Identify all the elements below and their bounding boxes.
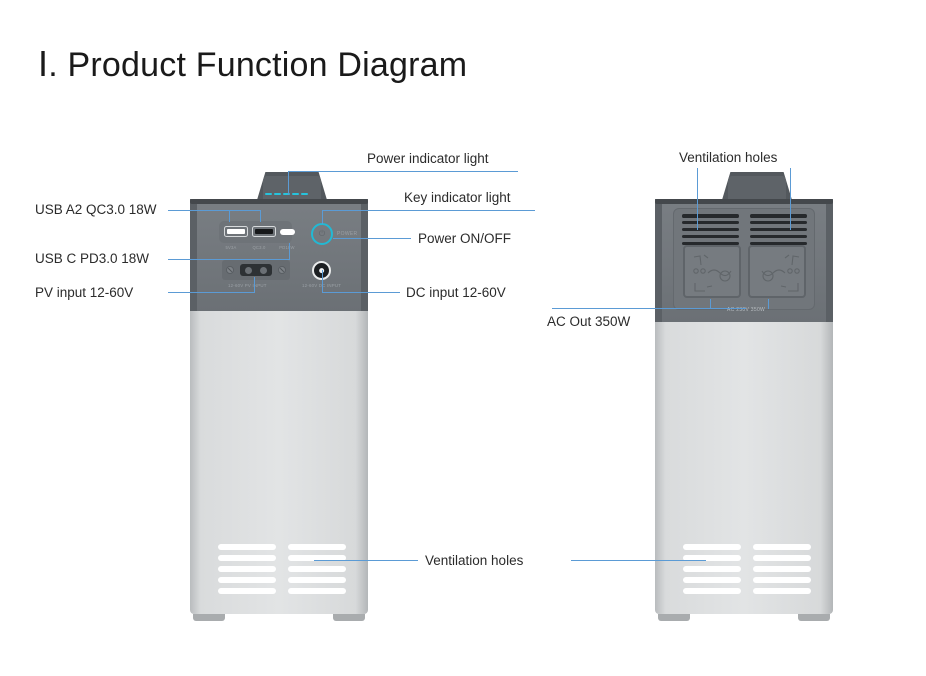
front-foot-right	[333, 614, 365, 621]
leader-pv-input-h	[168, 292, 255, 293]
rear-foot-left	[658, 614, 690, 621]
callout-ventilation-holes-bottom: Ventilation holes	[425, 554, 523, 568]
callout-usb-a2-qc: USB A2 QC3.0 18W	[35, 203, 157, 217]
rear-ventilation-right	[750, 214, 807, 248]
front-vent-column-1	[218, 544, 276, 594]
usb-a1-port[interactable]	[224, 226, 248, 237]
leader-vent-bottom-left	[314, 560, 418, 561]
front-head-edge-left	[190, 199, 197, 311]
pv-input-caption: 12-60V PV INPUT	[228, 283, 267, 288]
leader-power-on-off	[333, 238, 411, 239]
callout-ac-out: AC Out 350W	[547, 315, 630, 329]
page-title: Ⅰ. Product Function Diagram	[38, 45, 467, 85]
callout-ventilation-holes-top: Ventilation holes	[679, 151, 777, 165]
power-glyph: ⏻	[319, 229, 325, 239]
leader-pv-input-v	[254, 277, 255, 292]
leader-usb-c-h	[168, 259, 290, 260]
usb-a2-caption: QC3.0	[247, 245, 271, 250]
leader-usb-a2-v	[260, 210, 261, 222]
pv-screw-right	[278, 266, 286, 274]
callout-dc-input: DC input 12-60V	[406, 286, 506, 300]
pv-pin-left	[245, 267, 252, 274]
leader-vent-bottom-right	[571, 560, 706, 561]
rear-ventilation-left	[682, 214, 739, 248]
callout-usb-c-pd: USB C PD3.0 18W	[35, 252, 149, 266]
front-head-edge-right	[361, 199, 368, 311]
rear-bottom-ventilation	[683, 544, 811, 594]
pv-pin-right	[260, 267, 267, 274]
leader-usb-a1-v	[229, 210, 230, 222]
rear-handle-inner	[728, 176, 787, 200]
usb-a2-port[interactable]	[252, 226, 276, 237]
ac-outlet-right-graphic	[750, 247, 808, 300]
callout-key-indicator-light: Key indicator light	[404, 191, 511, 205]
front-head-face	[190, 199, 368, 311]
front-top-shadow	[190, 199, 368, 204]
usb-a1-slot	[227, 229, 245, 234]
leader-usb-c-v	[289, 243, 290, 259]
pv-connector[interactable]	[240, 264, 272, 276]
power-indicator-light	[265, 193, 308, 195]
rear-foot-right	[798, 614, 830, 621]
callout-pv-input: PV input 12-60V	[35, 286, 133, 300]
front-bottom-ventilation	[218, 544, 346, 594]
leader-usb-a2-h	[168, 210, 261, 211]
pv-input-block[interactable]	[222, 260, 290, 280]
front-handle-inner	[263, 176, 322, 200]
callout-power-on-off: Power ON/OFF	[418, 232, 511, 246]
usb-a1-caption: 5V3A	[219, 245, 243, 250]
power-button-caption: POWER	[337, 231, 357, 237]
pv-screw-left	[226, 266, 234, 274]
power-on-off-button[interactable]: ⏻	[311, 223, 333, 245]
usb-c-port[interactable]	[280, 229, 295, 235]
ac-outlet-right[interactable]	[748, 245, 806, 298]
leader-key-indicator-v	[322, 210, 323, 224]
rear-top-shadow	[655, 199, 833, 204]
front-head	[190, 199, 368, 311]
rear-head-edge-right	[826, 199, 833, 322]
leader-vent-top-left	[697, 168, 698, 230]
leader-power-indicator-h	[288, 171, 518, 172]
usb-a2-slot	[255, 229, 273, 234]
leader-power-indicator-v	[288, 171, 289, 195]
front-vent-column-2	[288, 544, 346, 594]
leader-ac-out-v1	[710, 299, 711, 309]
front-handle	[257, 172, 327, 200]
rear-handle	[722, 172, 792, 200]
ac-outlet-left-graphic	[685, 247, 743, 300]
rear-vent-column-2	[753, 544, 811, 594]
callout-power-indicator-light: Power indicator light	[367, 152, 489, 166]
rear-head-edge-left	[655, 199, 662, 322]
usb-c-caption: PD18W	[275, 245, 299, 250]
front-foot-left	[193, 614, 225, 621]
leader-dc-input-v	[322, 270, 323, 292]
rear-vent-column-1	[683, 544, 741, 594]
leader-ac-out-v2	[768, 299, 769, 309]
ac-outlet-left[interactable]	[683, 245, 741, 298]
leader-dc-input-h	[322, 292, 400, 293]
leader-key-indicator-h	[322, 210, 535, 211]
leader-ac-out-h	[552, 308, 746, 309]
usb-port-panel	[219, 221, 292, 243]
leader-vent-top-right	[790, 168, 791, 230]
